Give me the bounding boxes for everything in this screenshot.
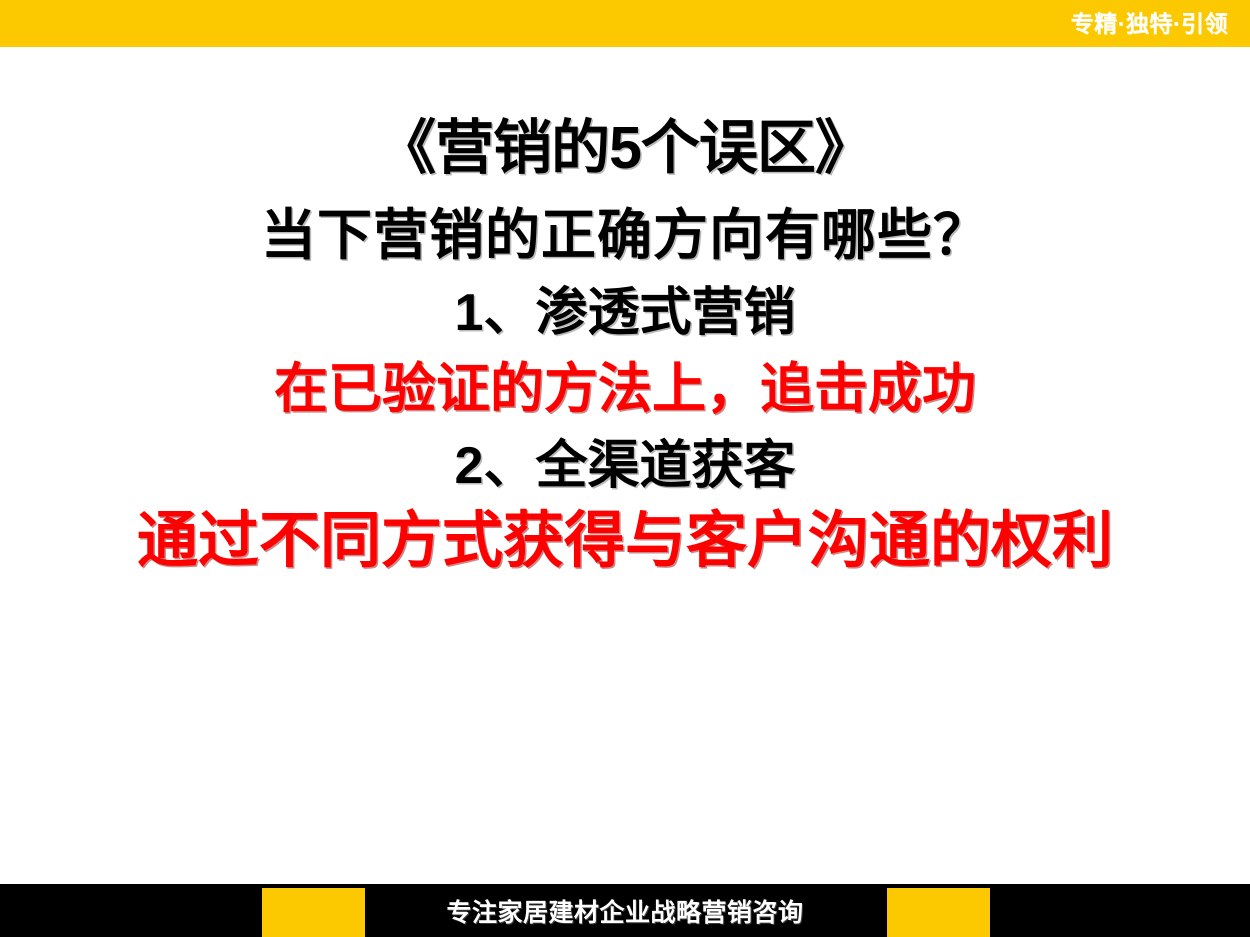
slide-header-band: 专精·独特·引领 xyxy=(0,0,1250,47)
bullet-point-2-detail: 通过不同方式获得与客户沟通的权利 xyxy=(0,510,1250,571)
presentation-slide: 专精·独特·引领 《营销的5个误区》 当下营销的正确方向有哪些？ 1、渗透式营销… xyxy=(0,0,1250,937)
slide-footer-band: 专注家居建材企业战略营销咨询 xyxy=(0,884,1250,937)
header-tagline: 专精·独特·引领 xyxy=(1071,12,1228,35)
bullet-point-1-detail: 在已验证的方法上，追击成功 xyxy=(0,362,1250,416)
slide-body: 《营销的5个误区》 当下营销的正确方向有哪些？ 1、渗透式营销 在已验证的方法上… xyxy=(0,47,1250,884)
bullet-point-2: 2、全渠道获客 xyxy=(0,440,1250,492)
slide-question: 当下营销的正确方向有哪些？ xyxy=(0,208,1250,263)
slide-title: 《营销的5个误区》 xyxy=(0,119,1250,178)
footer-tagline: 专注家居建材企业战略营销咨询 xyxy=(0,884,1250,937)
bullet-point-1: 1、渗透式营销 xyxy=(0,287,1250,339)
